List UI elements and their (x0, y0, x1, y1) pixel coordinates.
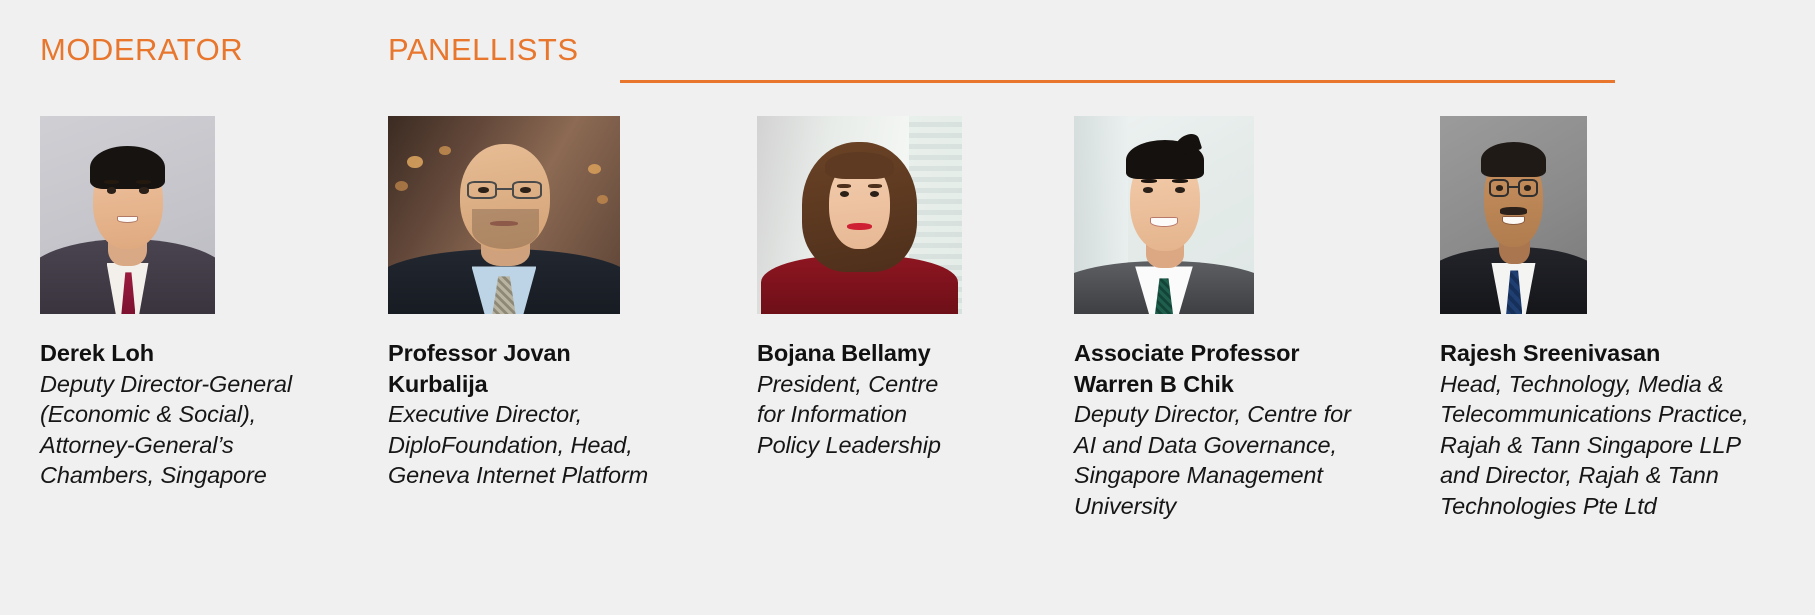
person-name: Associate Professor Warren B Chik (1074, 338, 1384, 399)
caption-jovan-kurbalija: Professor Jovan Kurbalija Executive Dire… (388, 338, 688, 491)
person-role: Head, Technology, Media & Telecommunicat… (1440, 369, 1785, 522)
moderator-heading: MODERATOR (40, 30, 243, 70)
caption-bojana-bellamy: Bojana Bellamy President, Centre for Inf… (757, 338, 1047, 460)
person-role: Deputy Director-General (Economic & Soci… (40, 369, 330, 491)
header-divider-rule (620, 80, 1615, 83)
portrait-derek-loh (40, 116, 215, 314)
caption-warren-b-chik: Associate Professor Warren B Chik Deputy… (1074, 338, 1384, 521)
panellists-heading: PANELLISTS (388, 30, 579, 70)
person-card-moderator: Derek Loh Deputy Director-General (Econo… (40, 116, 330, 314)
person-card-panellist-4: Rajesh Sreenivasan Head, Technology, Med… (1440, 116, 1780, 314)
person-name: Derek Loh (40, 338, 330, 369)
portrait-bojana-bellamy (757, 116, 962, 314)
person-card-panellist-2: Bojana Bellamy President, Centre for Inf… (757, 116, 1047, 314)
caption-rajesh-sreenivasan: Rajesh Sreenivasan Head, Technology, Med… (1440, 338, 1785, 521)
portrait-rajesh-sreenivasan (1440, 116, 1587, 314)
portrait-warren-b-chik (1074, 116, 1254, 314)
speaker-panel-slide: MODERATOR PANELLISTS (0, 0, 1815, 615)
person-role: President, Centre for Information Policy… (757, 369, 1047, 461)
header: MODERATOR PANELLISTS (0, 30, 1815, 80)
person-card-panellist-3: Associate Professor Warren B Chik Deputy… (1074, 116, 1384, 314)
person-card-panellist-1: Professor Jovan Kurbalija Executive Dire… (388, 116, 688, 314)
person-role: Executive Director, DiploFoundation, Hea… (388, 399, 688, 491)
portrait-jovan-kurbalija (388, 116, 620, 314)
person-name: Professor Jovan Kurbalija (388, 338, 688, 399)
person-name: Bojana Bellamy (757, 338, 1047, 369)
person-name: Rajesh Sreenivasan (1440, 338, 1785, 369)
person-role: Deputy Director, Centre for AI and Data … (1074, 399, 1384, 521)
caption-derek-loh: Derek Loh Deputy Director-General (Econo… (40, 338, 330, 491)
